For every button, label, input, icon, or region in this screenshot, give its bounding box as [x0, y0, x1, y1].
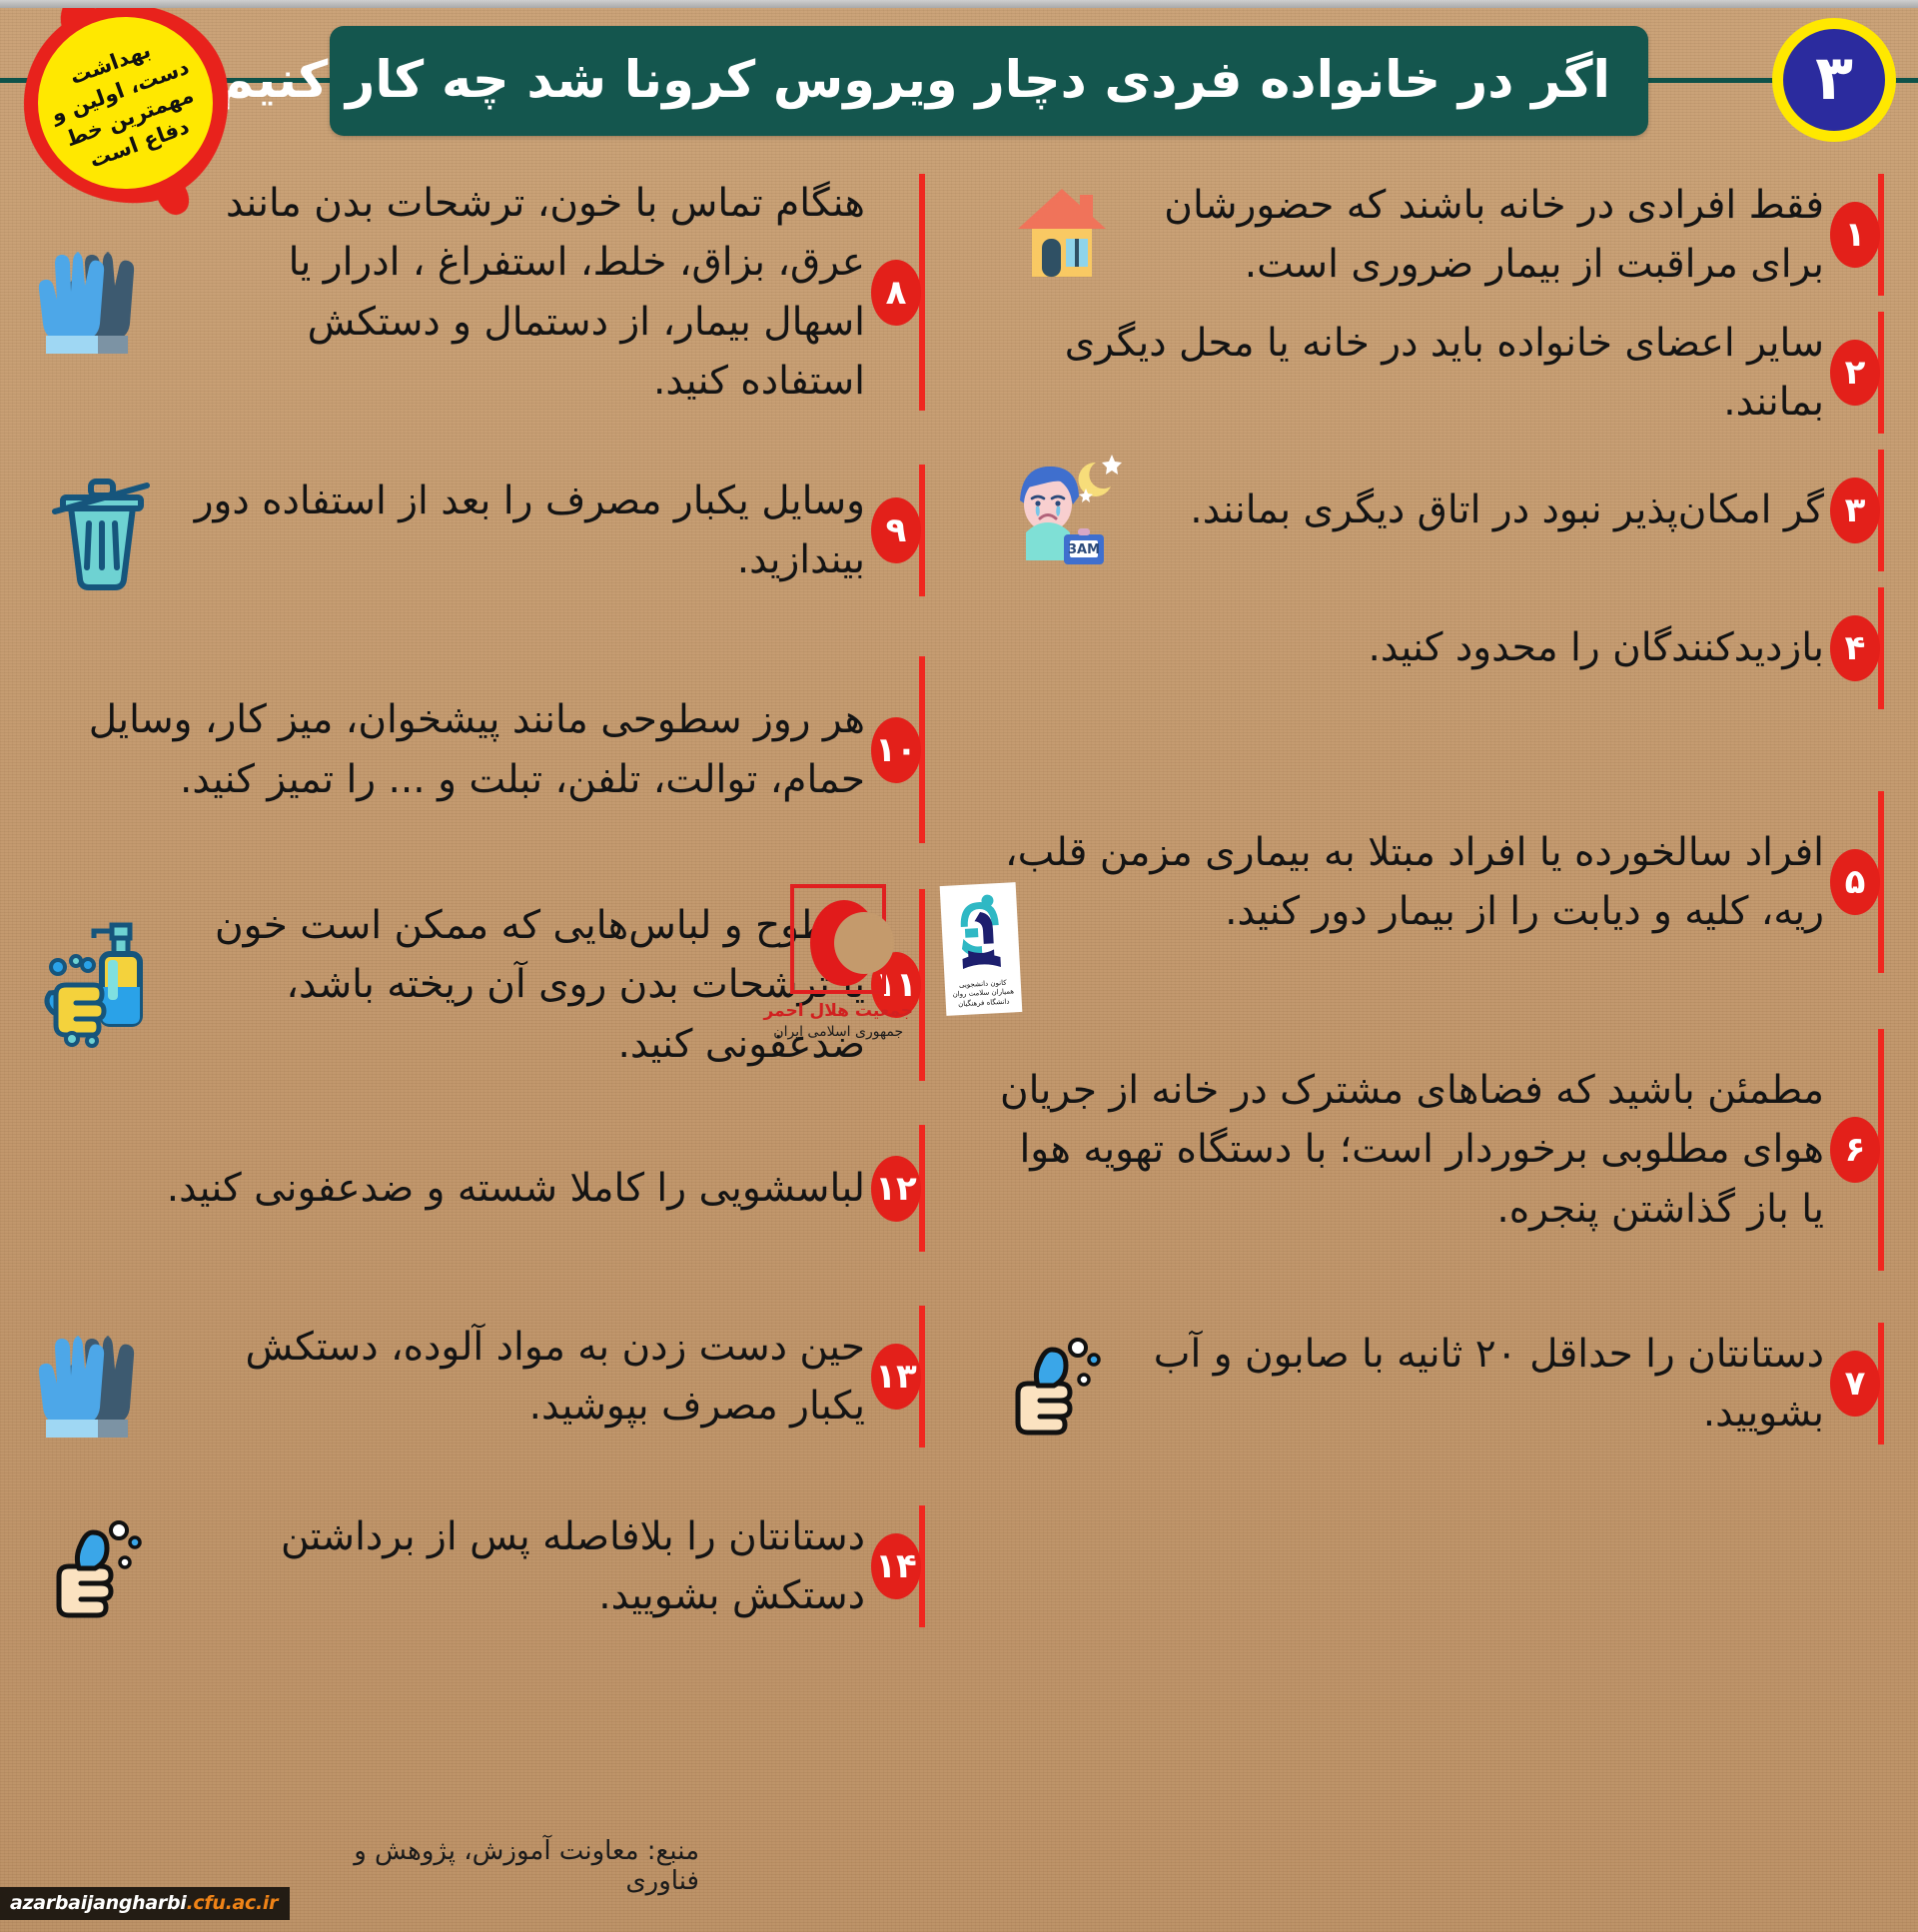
gloves-icon: [26, 228, 176, 358]
item-number: ۸: [886, 276, 907, 310]
item-text: هر روز سطوحی مانند پیشخوان، میز کار، وسا…: [40, 690, 871, 809]
item-text: دستانتان را حداقل ۲۰ ثانیه با صابون و آب…: [1149, 1325, 1830, 1444]
item-text: وسایل یکبار مصرف را بعد از استفاده دور ب…: [190, 472, 871, 590]
item-number: ۱: [1845, 218, 1866, 252]
item-number: ۴: [1845, 631, 1866, 665]
item-text: گر امکان‌پذیر نبود در اتاق دیگری بمانند.: [1149, 481, 1830, 539]
list-item: ۹ وسایل یکبار مصرف را بعد از استفاده دور…: [26, 461, 933, 600]
list-item: ۵ افراد سالخورده یا افراد مبتلا به بیمار…: [985, 787, 1892, 977]
list-item: ۳ گر امکان‌پذیر نبود در اتاق دیگری بمانن…: [985, 446, 1892, 575]
item-marker: ۱۳: [871, 1302, 933, 1451]
item-text: بازدیدکنندگان را محدود کنید.: [999, 618, 1830, 677]
item-number-badge: ۱۲: [871, 1156, 921, 1222]
kanoon-logo: کانون دانشجویی همیاران سلامت روان دانشگا…: [940, 882, 1023, 1016]
list-item: ۱۰ هر روز سطوحی مانند پیشخوان، میز کار، …: [26, 652, 933, 847]
site-watermark: azarbaijangharbi.cfu.ac.ir: [0, 1887, 290, 1920]
item-number-badge: ۶: [1830, 1117, 1880, 1183]
watermark-domain: azarbaijangharbi: [10, 1892, 187, 1914]
item-body: مطمئن باشید که فضاهای مشترک در خانه از ج…: [985, 1025, 1830, 1275]
red-crescent-caption-1: جمعیت هلال احمر: [763, 1001, 913, 1021]
item-number: ۱۴: [875, 1549, 917, 1583]
handwash-icon: [985, 1319, 1135, 1449]
item-marker: ۸: [871, 170, 933, 415]
item-text: فقط افرادی در خانه باشند که حضورشان برای…: [1149, 176, 1830, 295]
item-number-badge: ۱۰: [871, 717, 921, 783]
item-text: حین دست زدن به مواد آلوده، دستکش یکبار م…: [190, 1318, 871, 1437]
item-number: ۶: [1845, 1133, 1866, 1167]
item-marker: ۳: [1830, 446, 1892, 575]
svg-text:3AM: 3AM: [1068, 542, 1100, 557]
item-body: سایر اعضای خانواده باید در خانه یا محل د…: [985, 308, 1830, 438]
item-body: گر امکان‌پذیر نبود در اتاق دیگری بمانند.: [985, 446, 1830, 575]
list-item: ۶ مطمئن باشید که فضاهای مشترک در خانه از…: [985, 1025, 1892, 1275]
item-body: لباسشویی را کاملا شسته و ضدعفونی کنید.: [26, 1121, 871, 1256]
item-number-badge: ۱۴: [871, 1533, 921, 1599]
item-body: افراد سالخورده یا افراد مبتلا به بیماری …: [985, 787, 1830, 977]
item-number-badge: ۵: [1830, 849, 1880, 915]
column-right: ۱ فقط افرادی در خانه باشند که حضورشان بر…: [959, 170, 1918, 1832]
badge-text: بهداشت دست، اولین و مهمترین خط دفاع است: [34, 25, 216, 184]
sick-person-night-icon: 3AM: [985, 446, 1135, 575]
list-item: ۴ بازدیدکنندگان را محدود کنید.: [985, 583, 1892, 713]
list-item: ۱۳ حین دست زدن به مواد آلوده، دستکش یکبا…: [26, 1302, 933, 1451]
item-body: هنگام تماس با خون، ترشحات بدن مانند عرق،…: [26, 170, 871, 415]
item-number-badge: ۴: [1830, 615, 1880, 681]
item-number-badge: ۱: [1830, 202, 1880, 268]
red-crescent-logo: جمعیت هلال احمر جمهوری اسلامی ایران: [763, 884, 913, 1040]
item-marker: ۱۰: [871, 652, 933, 847]
item-text: افراد سالخورده یا افراد مبتلا به بیماری …: [999, 823, 1830, 942]
item-text: دستانتان را بلافاصله پس از برداشتن دستکش…: [190, 1507, 871, 1626]
logo-group: کانون دانشجویی همیاران سلامت روان دانشگا…: [763, 884, 1019, 1040]
item-body: حین دست زدن به مواد آلوده، دستکش یکبار م…: [26, 1302, 871, 1451]
item-marker: ۱۴: [871, 1501, 933, 1631]
sanitizer-hands-icon: [26, 920, 176, 1050]
list-item: ۲ سایر اعضای خانواده باید در خانه یا محل…: [985, 308, 1892, 438]
item-marker: ۶: [1830, 1025, 1892, 1275]
item-number: ۷: [1845, 1367, 1866, 1401]
step-number-label: ۳: [1815, 47, 1853, 109]
infographic-page: اگر در خانواده فردی دچار ویروس کرونا شد …: [0, 0, 1918, 1932]
trash-bin-icon: [26, 466, 176, 595]
gloves-icon: [26, 1312, 176, 1442]
list-item: ۱۲ لباسشویی را کاملا شسته و ضدعفونی کنید…: [26, 1121, 933, 1256]
item-marker: ۱۲: [871, 1121, 933, 1256]
item-body: دستانتان را حداقل ۲۰ ثانیه با صابون و آب…: [985, 1319, 1830, 1449]
item-marker: ۷: [1830, 1319, 1892, 1449]
item-number-badge: ۱۳: [871, 1344, 921, 1410]
step-number-badge: ۳: [1772, 18, 1896, 142]
item-text: مطمئن باشید که فضاهای مشترک در خانه از ج…: [999, 1061, 1830, 1239]
crescent-shape: [810, 900, 878, 986]
list-item: ۷ دستانتان را حداقل ۲۰ ثانیه با صابون و …: [985, 1319, 1892, 1449]
item-marker: ۲: [1830, 308, 1892, 438]
item-body: وسایل یکبار مصرف را بعد از استفاده دور ب…: [26, 461, 871, 600]
item-body: سطوح و لباس‌هایی که ممکن است خون یا ترشح…: [26, 885, 871, 1085]
red-crescent-caption-2: جمهوری اسلامی ایران: [763, 1024, 913, 1040]
item-number: ۳: [1845, 493, 1866, 527]
item-number: ۹: [886, 513, 907, 547]
item-marker: ۱: [1830, 170, 1892, 300]
badge-text-wrap: بهداشت دست، اولین و مهمترین خط دفاع است: [12, 0, 238, 215]
item-text: لباسشویی را کاملا شسته و ضدعفونی کنید.: [40, 1159, 871, 1218]
item-number-badge: ۷: [1830, 1351, 1880, 1417]
item-body: هر روز سطوحی مانند پیشخوان، میز کار، وسا…: [26, 652, 871, 847]
item-marker: ۵: [1830, 787, 1892, 977]
item-number: ۱۳: [875, 1360, 917, 1394]
item-number: ۱۲: [875, 1172, 917, 1206]
hand-hygiene-badge: بهداشت دست، اولین و مهمترین خط دفاع است: [24, 4, 229, 204]
item-text: سایر اعضای خانواده باید در خانه یا محل د…: [999, 314, 1830, 433]
item-number: ۲: [1845, 356, 1866, 390]
item-marker: ۹: [871, 461, 933, 600]
item-number: ۱۰: [875, 733, 917, 767]
handwash-icon: [26, 1501, 176, 1631]
item-marker: ۴: [1830, 583, 1892, 713]
page-title-bar: اگر در خانواده فردی دچار ویروس کرونا شد …: [330, 26, 1648, 136]
item-number-badge: ۲: [1830, 340, 1880, 406]
list-item: ۱ فقط افرادی در خانه باشند که حضورشان بر…: [985, 170, 1892, 300]
house-icon: [985, 170, 1135, 300]
item-text: هنگام تماس با خون، ترشحات بدن مانند عرق،…: [190, 174, 871, 411]
watermark-tld: .cfu.ac.ir: [187, 1892, 279, 1914]
list-item: ۱۴ دستانتان را بلافاصله پس از برداشتن دس…: [26, 1501, 933, 1631]
page-title: اگر در خانواده فردی دچار ویروس کرونا شد …: [187, 54, 1610, 108]
kanoon-mark-icon: [949, 891, 1011, 978]
item-body: دستانتان را بلافاصله پس از برداشتن دستکش…: [26, 1501, 871, 1631]
item-number: ۵: [1845, 865, 1866, 899]
kanoon-caption: کانون دانشجویی همیاران سلامت روان دانشگا…: [950, 978, 1017, 1010]
item-body: بازدیدکنندگان را محدود کنید.: [985, 583, 1830, 713]
item-body: فقط افرادی در خانه باشند که حضورشان برای…: [985, 170, 1830, 300]
item-number-badge: ۹: [871, 497, 921, 563]
item-number-badge: ۸: [871, 260, 921, 326]
red-crescent-icon: [790, 884, 886, 994]
top-strip: [0, 0, 1918, 8]
item-number-badge: ۳: [1830, 478, 1880, 543]
